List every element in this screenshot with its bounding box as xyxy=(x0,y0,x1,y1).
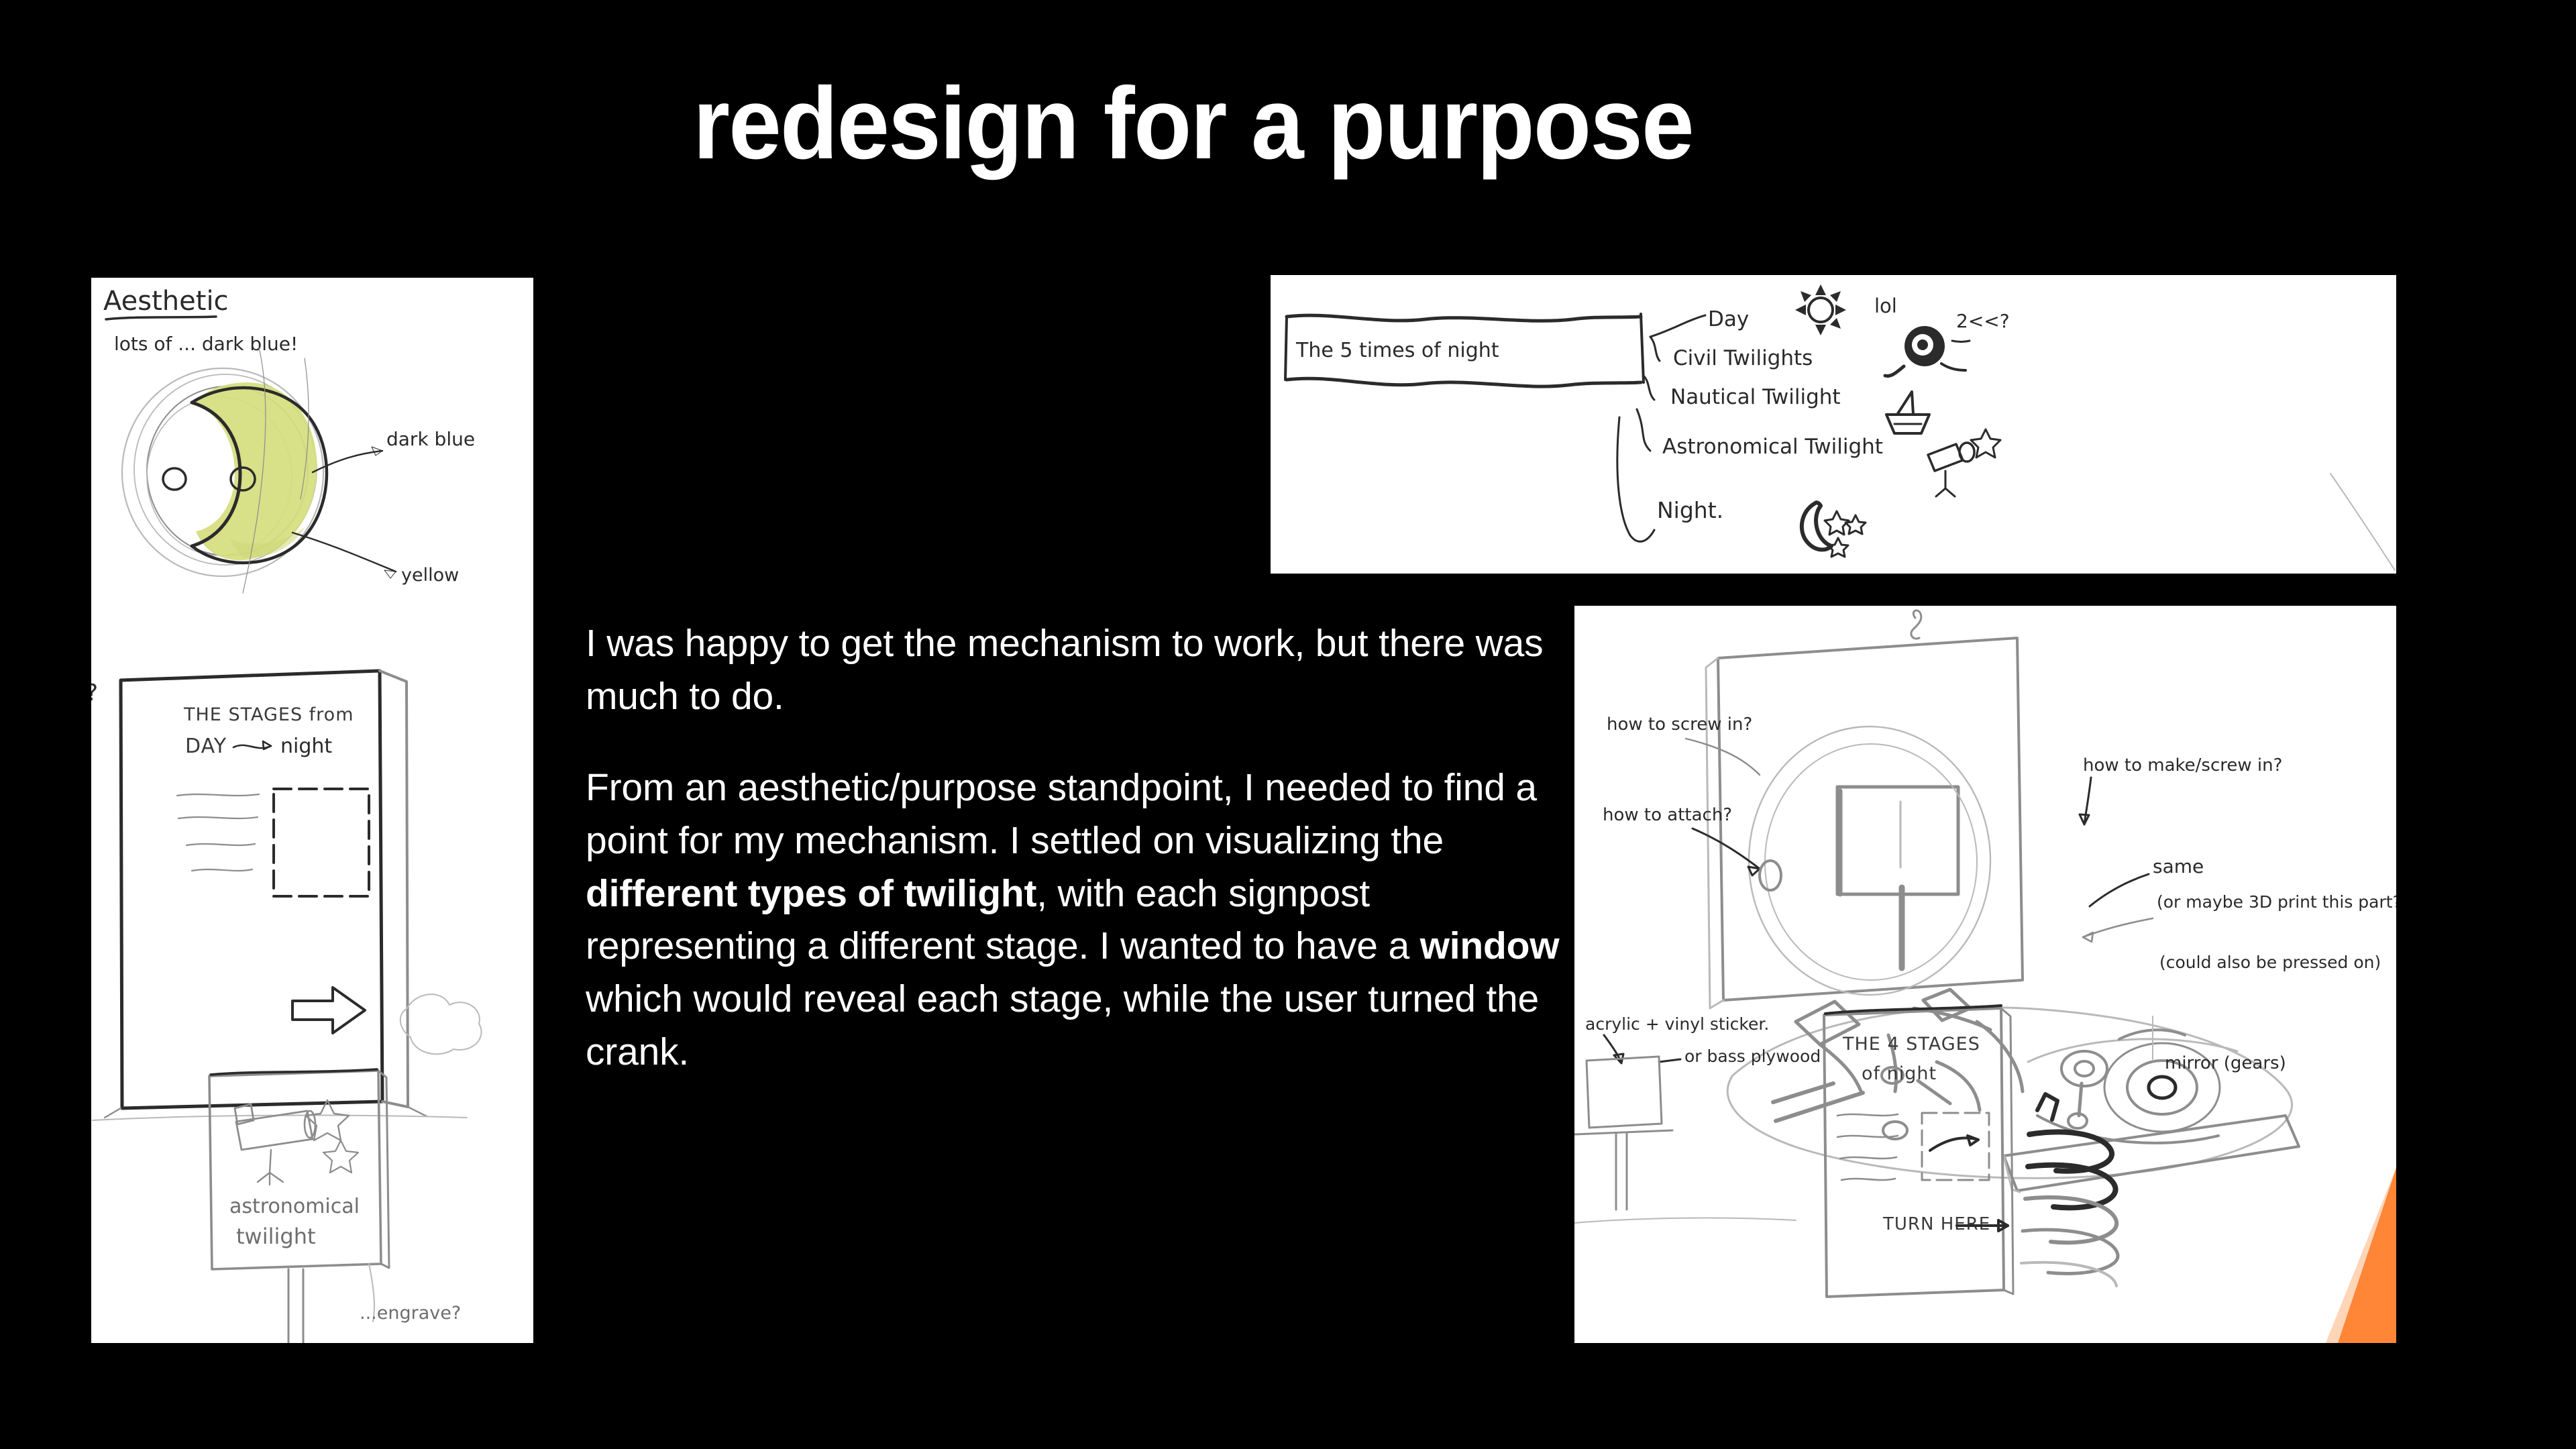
sketch-left-signpost-line-1: astronomical xyxy=(229,1195,360,1218)
note-acrylic: acrylic + vinyl sticker. xyxy=(1585,1014,1769,1034)
sketch-top-right-item-2: Nautical Twilight xyxy=(1670,385,1841,409)
sketch-left-edge-fragment: ? xyxy=(91,680,98,706)
note-3d-print: (or maybe 3D print this part?) xyxy=(2157,892,2396,912)
sketch-aesthetic-moodboard: Aesthetic lots of ... dark blue! ? xyxy=(91,278,533,1343)
note-make-screw: how to make/screw in? xyxy=(2083,755,2282,775)
boat-icon xyxy=(1886,392,1929,433)
four-stages-signboard: THE 4 STAGES of night TURN HERE xyxy=(1824,1006,2013,1297)
sun-doodle-note: lol xyxy=(1874,294,1897,317)
astronomical-twilight-signpost: astronomical twilight ...engrave? xyxy=(209,1069,461,1343)
body-copy: I was happy to get the mechanism to work… xyxy=(586,617,1572,1078)
sketch-top-right-item-3: Astronomical Twilight xyxy=(1662,435,1883,459)
body-paragraph-2-bold-2: window xyxy=(1420,924,1560,967)
sketch-top-right-item-0: Day xyxy=(1708,307,1749,331)
note-screw-in: how to screw in? xyxy=(1607,714,1752,735)
sketch-top-right-item-1: Civil Twilights xyxy=(1673,346,1813,370)
sun-icon xyxy=(1795,284,1846,335)
sketch-mechanism-assembly: how to screw in? how to attach? how to m… xyxy=(1574,606,2396,1343)
note-attach: how to attach? xyxy=(1603,805,1732,825)
note-pressed-on: (could also be pressed on) xyxy=(2159,953,2381,972)
note-same: same xyxy=(2153,855,2204,877)
sketch-top-right-item-4: Night. xyxy=(1657,497,1723,523)
mechanism-base xyxy=(1727,989,2299,1192)
moon-stars-icon xyxy=(1802,502,1866,557)
small-panel xyxy=(1574,1057,1796,1223)
banner-box: The 5 times of night xyxy=(1285,314,1644,386)
sketch-bottom-right-sign-line-2: of night xyxy=(1862,1063,1937,1084)
moon-diagram: dark blue yellow xyxy=(122,347,475,593)
upright-panel xyxy=(1706,638,2023,1008)
body-paragraph-2: From an aesthetic/purpose standpoint, I … xyxy=(586,761,1572,1078)
note-mirror: mirror (gears) xyxy=(2165,1053,2286,1073)
eclipse-doodle-note: 2<<? xyxy=(1956,310,2010,332)
sketch-left-subtitle: lots of ... dark blue! xyxy=(114,333,298,355)
sketch-five-times-of-night: The 5 times of night Day Civil Twilights… xyxy=(1271,275,2396,574)
stages-signboard: THE STAGES from DAY night xyxy=(93,671,482,1120)
eclipse-icon xyxy=(1885,326,1966,376)
body-paragraph-2-part-3: which would reveal each stage, while the… xyxy=(586,977,1539,1073)
sketch-bottom-right-sign-line-1: THE 4 STAGES xyxy=(1842,1034,1980,1055)
sketch-left-sign-line-1: THE STAGES from xyxy=(183,704,354,725)
sketch-left-label-yellow: yellow xyxy=(401,565,459,586)
page-title: redesign for a purpose xyxy=(693,72,1693,174)
body-paragraph-2-bold-1: different types of twilight xyxy=(586,872,1036,915)
body-paragraph-1: I was happy to get the mechanism to work… xyxy=(586,617,1572,722)
hook-doodle xyxy=(1911,610,1921,639)
sketch-left-label-dark-blue: dark blue xyxy=(386,428,475,450)
sketch-left-signpost-line-2: twilight xyxy=(236,1224,316,1249)
sketch-left-sign-line-3: night xyxy=(280,735,332,758)
body-paragraph-2-part-1: From an aesthetic/purpose standpoint, I … xyxy=(586,766,1537,862)
slide-canvas: redesign for a purpose Aesthetic lots of… xyxy=(0,0,2576,1449)
note-plywood: or bass plywood xyxy=(1684,1046,1821,1066)
sketch-left-engrave-note: ...engrave? xyxy=(360,1303,461,1324)
telescope-icon xyxy=(1928,429,2000,496)
sketch-left-title: Aesthetic xyxy=(103,286,229,317)
sketch-top-right-box-label: The 5 times of night xyxy=(1295,339,1499,362)
sketch-left-sign-line-2: DAY xyxy=(185,735,227,758)
